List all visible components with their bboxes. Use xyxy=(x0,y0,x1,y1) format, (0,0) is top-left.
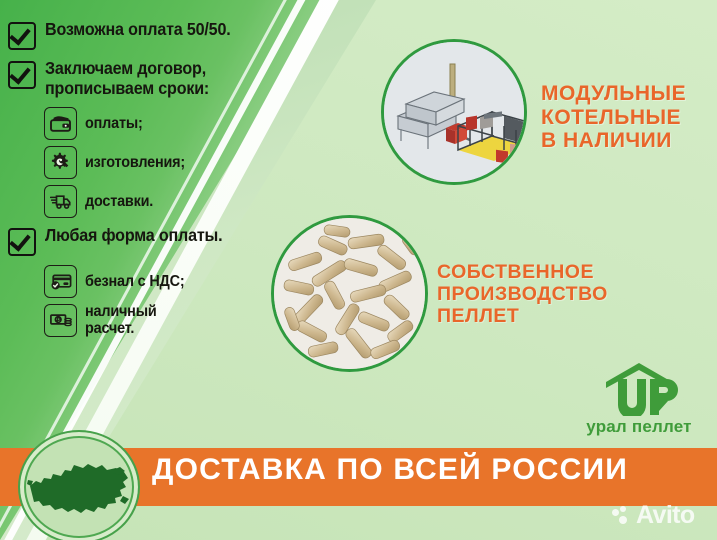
payment-item-cash: наличный расчет. xyxy=(44,304,276,337)
payment-item-label: наличный расчет. xyxy=(85,304,157,337)
cash-ruble-icon xyxy=(44,304,77,337)
terms-item-manufacturing: изготовления; xyxy=(44,146,276,179)
terms-item-label: доставки. xyxy=(85,194,153,210)
delivery-banner-text: ДОСТАВКА ПО ВСЕЙ РОССИИ xyxy=(152,455,712,485)
checklist-item-label: Любая форма оплаты. xyxy=(45,226,222,246)
avito-wordmark: Avito xyxy=(636,503,695,528)
headline-modular-boilers: МОДУЛЬНЫЕ КОТЕЛЬНЫЕ В НАЛИЧИИ xyxy=(541,82,686,153)
checklist-item-payment-forms: Любая форма оплаты. xyxy=(8,226,276,256)
terms-item-delivery: доставки. xyxy=(44,185,276,218)
terms-sublist: оплаты; изготовления; xyxy=(44,107,276,218)
wallet-icon xyxy=(44,107,77,140)
gear-wrench-icon xyxy=(44,146,77,179)
avito-dots-icon xyxy=(612,506,632,526)
checkmark-icon xyxy=(8,22,36,50)
credit-card-check-icon xyxy=(44,265,77,298)
payment-item-label: безнал с НДС; xyxy=(85,274,184,290)
logo-wordmark: урал пеллет xyxy=(573,417,705,437)
terms-item-label: изготовления; xyxy=(85,155,185,171)
avito-watermark: Avito xyxy=(612,503,695,528)
terms-item-label: оплаты; xyxy=(85,116,143,132)
headline-own-pellet-production: СОБСТВЕННОЕ ПРОИЗВОДСТВО ПЕЛЛЕТ xyxy=(437,262,608,327)
checklist-item-label: Возможна оплата 50/50. xyxy=(45,20,231,40)
advertisement-banner: Возможна оплата 50/50. Заключаем договор… xyxy=(0,0,717,540)
terms-item-payment: оплаты; xyxy=(44,107,276,140)
russia-map-badge xyxy=(18,430,140,540)
payment-item-bank-transfer: безнал с НДС; xyxy=(44,265,276,298)
company-logo: урал пеллет xyxy=(573,362,705,437)
up-house-logo-icon xyxy=(600,362,678,416)
checklist-item-contract: Заключаем договор, прописываем сроки: xyxy=(8,59,276,98)
boiler-photo xyxy=(381,39,527,185)
pellets-photo xyxy=(271,215,428,372)
payment-sublist: безнал с НДС; наличный расчет. xyxy=(44,265,276,337)
checklist-item-prepayment: Возможна оплата 50/50. xyxy=(8,20,276,50)
russia-map-icon xyxy=(27,456,131,518)
checklist-item-label: Заключаем договор, прописываем сроки: xyxy=(45,59,209,98)
checkmark-icon xyxy=(8,228,36,256)
checklist-column: Возможна оплата 50/50. Заключаем договор… xyxy=(8,20,276,345)
truck-icon xyxy=(44,185,77,218)
checkmark-icon xyxy=(8,61,36,89)
